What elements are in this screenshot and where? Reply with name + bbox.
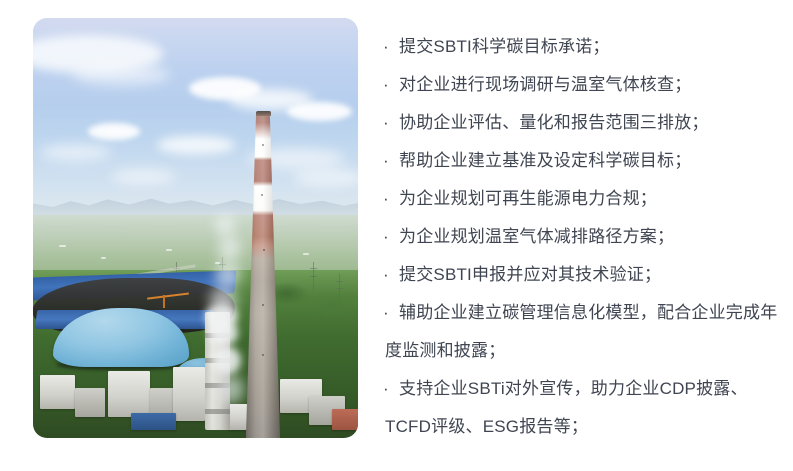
transmission-pylon-icon xyxy=(339,274,340,303)
list-item: · 对企业进行现场调研与温室气体核查； xyxy=(383,66,779,104)
stacker-reclaimer-crane xyxy=(163,295,165,308)
list-item-text: 为企业规划温室气体减排路径方案； xyxy=(399,218,674,256)
list-item: · 帮助企业建立基准及设定科学碳目标； xyxy=(383,142,779,180)
list-item: · 提交SBTI科学碳目标承诺； xyxy=(383,28,779,66)
distant-building-speck xyxy=(59,245,66,247)
list-item-text: 支持企业SBTi对外宣传，助力企业CDP披露、 xyxy=(399,370,748,408)
transmission-pylon-icon xyxy=(313,262,314,291)
distant-building-speck xyxy=(166,249,172,251)
cloud-icon xyxy=(287,102,352,121)
list-item-text: 提交SBTI申报并应对其技术验证； xyxy=(399,256,661,294)
cloud-icon xyxy=(88,123,140,140)
list-item-continuation: TCFD评级、ESG报告等； xyxy=(383,408,779,446)
distant-building-speck xyxy=(303,253,309,255)
bullet-icon: · xyxy=(383,294,399,332)
page-root: · 提交SBTI科学碳目标承诺； · 对企业进行现场调研与温室气体核查； · 协… xyxy=(0,0,793,471)
list-item-text: 协助企业评估、量化和报告范围三排放； xyxy=(399,104,709,142)
cloud-icon xyxy=(157,136,235,155)
cloud-icon xyxy=(40,144,112,161)
smokestack-cap xyxy=(256,111,271,116)
list-item-text: 辅助企业建立碳管理信息化模型，配合企业完成年 xyxy=(399,294,777,332)
smokestack-marker xyxy=(262,304,264,306)
plant-building xyxy=(108,371,150,417)
bullet-icon: · xyxy=(383,142,399,180)
plant-building xyxy=(173,367,206,422)
bullet-icon: · xyxy=(383,180,399,218)
list-item-text: 提交SBTI科学碳目标承诺； xyxy=(399,28,610,66)
aerial-photo-coal-power-plant-smokestack xyxy=(33,18,358,438)
plant-building xyxy=(75,388,104,417)
steam-plume xyxy=(212,346,241,375)
boiler-scrubber-tower xyxy=(205,409,229,414)
plant-building xyxy=(131,413,177,430)
list-item: · 为企业规划温室气体减排路径方案； xyxy=(383,218,779,256)
list-item-text: 为企业规划可再生能源电力合规； xyxy=(399,180,657,218)
steam-plume xyxy=(215,262,241,287)
plant-building xyxy=(40,375,76,409)
bullet-icon: · xyxy=(383,370,399,408)
bullet-icon: · xyxy=(383,66,399,104)
list-item: · 为企业规划可再生能源电力合规； xyxy=(383,180,779,218)
bullet-icon: · xyxy=(383,28,399,66)
bullet-icon: · xyxy=(383,104,399,142)
list-item: · 提交SBTI申报并应对其技术验证； xyxy=(383,256,779,294)
service-list: · 提交SBTI科学碳目标承诺； · 对企业进行现场调研与温室气体核查； · 协… xyxy=(383,28,779,446)
bullet-icon: · xyxy=(383,218,399,256)
list-item-continuation: 度监测和披露； xyxy=(383,332,779,370)
bullet-icon: · xyxy=(383,256,399,294)
steam-plume xyxy=(215,215,235,236)
steam-plume xyxy=(218,236,241,261)
cloud-icon xyxy=(111,169,176,184)
steam-plume xyxy=(209,320,238,345)
plant-building xyxy=(332,409,358,430)
list-item-text: 帮助企业建立基准及设定科学碳目标； xyxy=(399,142,691,180)
cloud-icon xyxy=(293,169,358,186)
list-item: · 协助企业评估、量化和报告范围三排放； xyxy=(383,104,779,142)
cloud-icon xyxy=(72,64,170,85)
list-item: · 辅助企业建立碳管理信息化模型，配合企业完成年 xyxy=(383,294,779,332)
list-item: · 支持企业SBTi对外宣传，助力企业CDP披露、 xyxy=(383,370,779,408)
list-item-text: 对企业进行现场调研与温室气体核查； xyxy=(399,66,691,104)
